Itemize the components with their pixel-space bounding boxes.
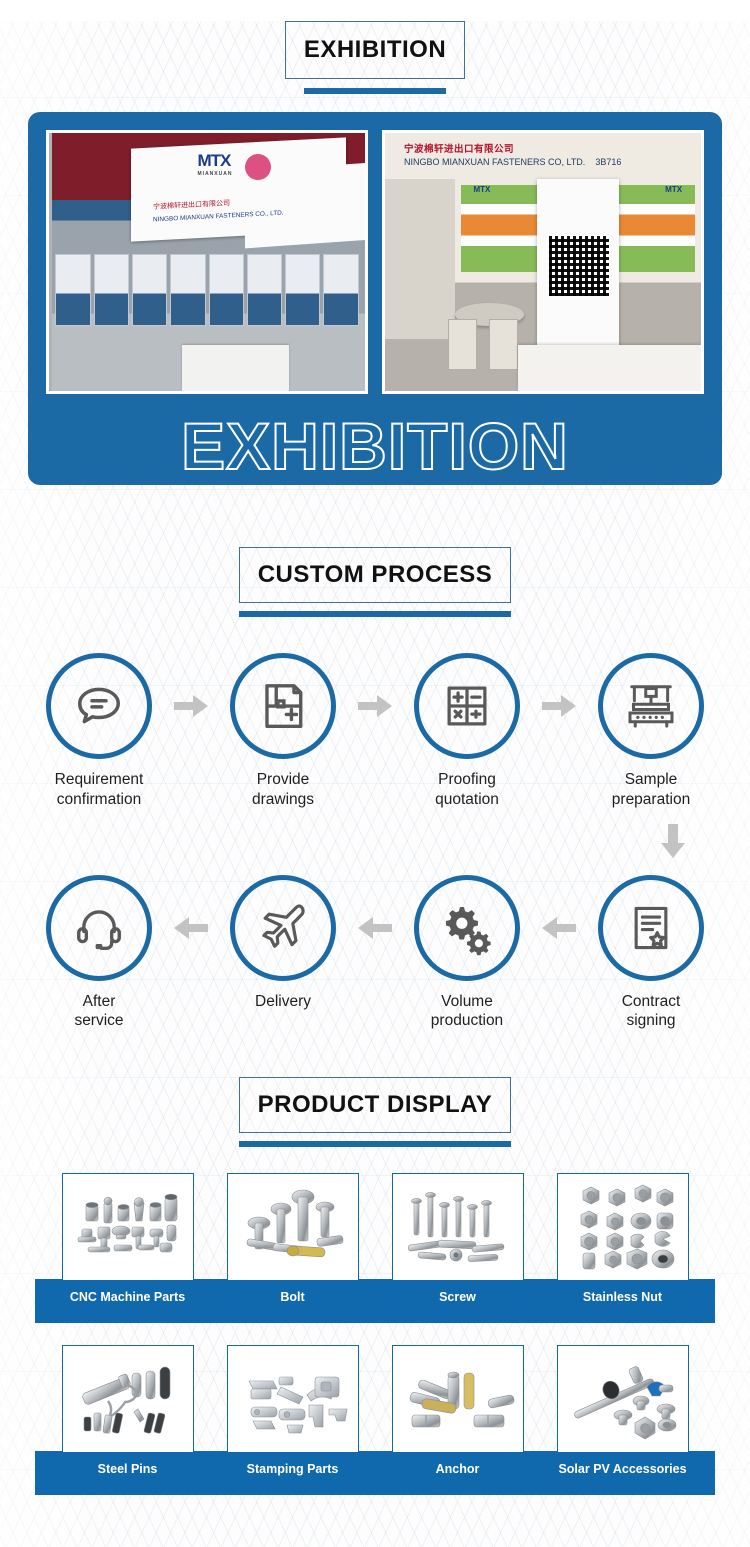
booth2-company-en-line: NINGBO MIANXUAN FASTENERS CO, LTD. 3B716 (404, 157, 695, 167)
label-line-1: Provide (252, 770, 314, 790)
stainless-nut-photo (557, 1173, 689, 1281)
arrow-left-icon (538, 875, 580, 981)
booth2-chair (448, 319, 476, 371)
product-card-stamping-parts[interactable]: Stamping Parts (220, 1345, 365, 1476)
product-card-stainless-nut[interactable]: Stainless Nut (550, 1173, 695, 1304)
heading-box-exhibition: EXHIBITION (285, 21, 465, 79)
process-row-2: After service Delivery (0, 875, 750, 1032)
process-step-circle (414, 653, 520, 759)
arrow-right-icon (354, 653, 396, 759)
process-row-1: Requirement confirmation (0, 653, 750, 810)
arrow-right-icon (538, 653, 580, 759)
heading-underline-product-display (239, 1141, 511, 1147)
label-line-1: After (74, 992, 123, 1012)
process-step-circle (598, 875, 704, 981)
process-step-label: Contract signing (622, 992, 681, 1032)
booth2-company-cn: 宁波棉轩进出口有限公司 (404, 141, 695, 155)
process-step-volume-production[interactable]: Volume production (396, 875, 538, 1032)
label-line-1: Contract (622, 992, 681, 1012)
process-step-circle (46, 653, 152, 759)
label-line-1: Sample (612, 770, 690, 790)
screw-photo (392, 1173, 524, 1281)
section-heading-custom-process: CUSTOM PROCESS (0, 547, 750, 617)
process-step-contract-signing[interactable]: Contract signing (580, 875, 722, 1032)
product-name: Stamping Parts (247, 1462, 339, 1476)
banner-outline-title: EXHIBITION (28, 413, 722, 479)
label-line-2: preparation (612, 790, 690, 810)
heading-box-product-display: PRODUCT DISPLAY (239, 1077, 511, 1133)
arrow-down-wrap (0, 824, 750, 863)
arrow-down-icon (660, 824, 686, 863)
solar-pv-accessories-photo (557, 1345, 689, 1453)
anchor-photo (392, 1345, 524, 1453)
chat-bubble-icon (71, 678, 127, 734)
product-card-steel-pins[interactable]: Steel Pins (55, 1345, 200, 1476)
heading-underline-exhibition (304, 88, 446, 94)
product-grid-row-1: CNC Machine Parts (0, 1173, 750, 1323)
heading-text-product-display: PRODUCT DISPLAY (258, 1091, 493, 1119)
cnc-machine-icon (623, 678, 679, 734)
booth1-frame-poles (49, 133, 365, 391)
product-name: CNC Machine Parts (70, 1290, 185, 1304)
label-line-1: Volume (431, 992, 503, 1012)
steel-pins-photo (62, 1345, 194, 1453)
process-step-label: Proofing quotation (435, 770, 499, 810)
product-card-cnc-machine-parts[interactable]: CNC Machine Parts (55, 1173, 200, 1304)
arrow-left-icon (354, 875, 396, 981)
process-step-circle (46, 875, 152, 981)
exhibition-banner: MTX MIANXUAN 宁波棉轩进出口有限公司 NINGBO MIANXUAN… (28, 112, 722, 485)
label-line-2: drawings (252, 790, 314, 810)
booth2-logo-right: MTX (665, 185, 682, 194)
calculator-icon (441, 680, 493, 732)
exhibition-photo-group: MTX MIANXUAN 宁波棉轩进出口有限公司 NINGBO MIANXUAN… (46, 130, 704, 394)
headset-icon (72, 901, 126, 955)
product-name: Anchor (436, 1462, 480, 1476)
page-content: EXHIBITION MTX MIANXUAN 宁波棉轩进出口有限公司 NING… (0, 21, 750, 1495)
label-line-2: service (74, 1011, 123, 1031)
label-line-1: Requirement (55, 770, 144, 790)
exhibition-booth-photo-2: 宁波棉轩进出口有限公司 NINGBO MIANXUAN FASTENERS CO… (382, 130, 704, 394)
section-heading-exhibition: EXHIBITION (0, 21, 750, 94)
product-name: Solar PV Accessories (558, 1462, 686, 1476)
process-step-label: Delivery (255, 992, 311, 1012)
process-step-circle (230, 653, 336, 759)
cnc-machine-parts-photo (62, 1173, 194, 1281)
process-step-label: Provide drawings (252, 770, 314, 810)
label-line-2: confirmation (55, 790, 144, 810)
process-step-provide-drawings[interactable]: Provide drawings (212, 653, 354, 810)
label-line-2: production (431, 1011, 503, 1031)
process-step-circle (598, 653, 704, 759)
drawing-document-icon (256, 679, 310, 733)
section-heading-product-display: PRODUCT DISPLAY (0, 1077, 750, 1147)
heading-box-custom-process: CUSTOM PROCESS (239, 547, 511, 603)
booth2-counter (518, 345, 701, 391)
bolt-photo (227, 1173, 359, 1281)
label-line-2: signing (622, 1011, 681, 1031)
product-grid-row-2: Steel Pins (0, 1345, 750, 1495)
airplane-icon (255, 900, 311, 956)
label-line-1: Delivery (255, 992, 311, 1012)
booth2-header: 宁波棉轩进出口有限公司 NINGBO MIANXUAN FASTENERS CO… (404, 141, 695, 167)
process-step-label: After service (74, 992, 123, 1032)
booth2-chair (489, 319, 517, 371)
arrow-right-icon (170, 653, 212, 759)
product-name: Bolt (280, 1290, 304, 1304)
exhibition-booth-photo-1: MTX MIANXUAN 宁波棉轩进出口有限公司 NINGBO MIANXUAN… (46, 130, 368, 394)
product-card-anchor[interactable]: Anchor (385, 1345, 530, 1476)
product-card-screw[interactable]: Screw (385, 1173, 530, 1304)
booth2-booth-no: 3B716 (595, 157, 621, 167)
product-row-1-cells: CNC Machine Parts (0, 1173, 750, 1304)
heading-text-exhibition: EXHIBITION (304, 36, 446, 64)
gears-icon (439, 900, 495, 956)
arrow-left-icon (170, 875, 212, 981)
booth2-qr-code (549, 236, 609, 296)
product-name: Screw (439, 1290, 476, 1304)
heading-underline-custom-process (239, 611, 511, 617)
process-step-circle (230, 875, 336, 981)
product-name: Steel Pins (98, 1462, 158, 1476)
process-step-label: Sample preparation (612, 770, 690, 810)
process-step-sample-preparation[interactable]: Sample preparation (580, 653, 722, 810)
label-line-2: quotation (435, 790, 499, 810)
page-root: EXHIBITION MTX MIANXUAN 宁波棉轩进出口有限公司 NING… (0, 21, 750, 1547)
product-name: Stainless Nut (583, 1290, 662, 1304)
product-card-solar-pv-accessories[interactable]: Solar PV Accessories (550, 1345, 695, 1476)
process-step-requirement-confirmation[interactable]: Requirement confirmation (28, 653, 170, 810)
process-step-label: Requirement confirmation (55, 770, 144, 810)
booth2-company-en: NINGBO MIANXUAN FASTENERS CO, LTD. (404, 157, 585, 167)
process-step-after-service[interactable]: After service (28, 875, 170, 1032)
product-card-bolt[interactable]: Bolt (220, 1173, 365, 1304)
stamping-parts-photo (227, 1345, 359, 1453)
process-step-delivery[interactable]: Delivery (212, 875, 354, 1012)
process-step-proofing-quotation[interactable]: Proofing quotation (396, 653, 538, 810)
heading-text-custom-process: CUSTOM PROCESS (258, 561, 493, 589)
process-step-label: Volume production (431, 992, 503, 1032)
product-row-2-cells: Steel Pins (0, 1345, 750, 1476)
process-step-circle (414, 875, 520, 981)
contract-document-icon (626, 903, 676, 953)
booth2-logo-left: MTX (473, 185, 490, 194)
label-line-1: Proofing (435, 770, 499, 790)
